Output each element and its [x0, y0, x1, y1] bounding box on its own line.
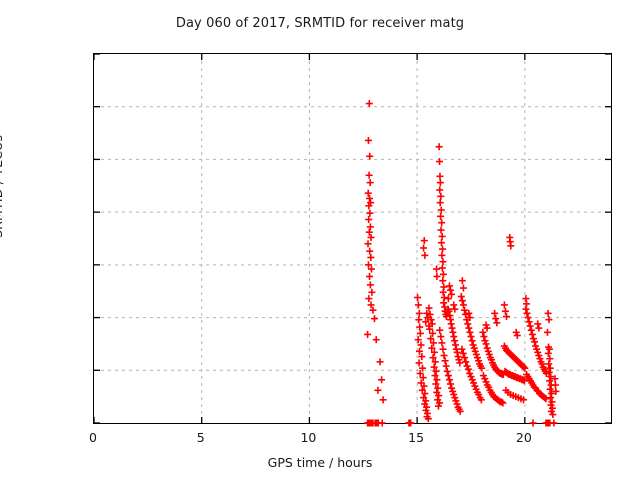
data-point-marker: [365, 240, 372, 247]
data-point-marker: [415, 301, 422, 308]
scatter-plot-figure: Day 060 of 2017, SRMTID for receiver mat…: [0, 0, 640, 480]
data-point-marker: [436, 173, 443, 180]
data-point-marker: [439, 258, 446, 265]
data-point-marker: [459, 297, 466, 304]
x-tick-label: 20: [516, 430, 532, 445]
data-point-marker: [529, 331, 536, 338]
data-point-marker: [377, 358, 384, 365]
data-point-marker: [552, 382, 559, 389]
data-point-marker: [503, 313, 510, 320]
data-point-marker: [367, 223, 374, 230]
data-point-marker: [493, 319, 500, 326]
data-point-marker: [448, 320, 455, 327]
data-point-marker: [442, 357, 449, 364]
data-point-marker: [459, 277, 466, 284]
x-axis-title: GPS time / hours: [0, 455, 640, 470]
data-point-marker: [365, 137, 372, 144]
data-point-marker: [438, 339, 445, 346]
data-point-marker: [366, 248, 373, 255]
data-point-marker: [450, 333, 457, 340]
data-point-marker: [450, 301, 457, 308]
data-point-marker: [368, 289, 375, 296]
data-point-marker: [444, 368, 451, 375]
data-point-marker: [535, 325, 542, 332]
data-point-marker: [523, 310, 530, 317]
data-point-marker: [366, 273, 373, 280]
data-point-marker: [367, 179, 374, 186]
data-point-marker: [437, 193, 444, 200]
data-point-marker: [378, 376, 385, 383]
data-point-marker: [545, 350, 552, 357]
data-point-marker: [366, 172, 373, 179]
data-point-marker: [447, 380, 454, 387]
data-point-marker: [460, 285, 467, 292]
data-point-marker: [433, 273, 440, 280]
data-point-marker: [365, 190, 372, 197]
data-point-marker: [467, 333, 474, 340]
data-point-marker: [438, 252, 445, 259]
data-point-marker: [367, 254, 374, 261]
data-point-marker: [464, 320, 471, 327]
data-point-marker: [544, 329, 551, 336]
data-point-marker: [373, 336, 380, 343]
data-point-marker: [443, 363, 450, 370]
data-point-marker: [451, 337, 458, 344]
data-point-markers: [94, 54, 611, 423]
data-point-marker: [366, 100, 373, 107]
data-point-marker: [547, 394, 554, 401]
plot-area: [93, 53, 612, 424]
data-point-marker: [440, 289, 447, 296]
data-point-marker: [465, 325, 472, 332]
x-tick-label: 15: [408, 430, 424, 445]
data-point-marker: [371, 315, 378, 322]
data-point-marker: [415, 316, 422, 323]
data-point-marker: [525, 314, 532, 321]
data-point-marker: [365, 295, 372, 302]
data-point-marker: [545, 316, 552, 323]
data-point-marker: [416, 310, 423, 317]
data-point-marker: [479, 329, 486, 336]
data-point-marker: [466, 329, 473, 336]
data-point-marker: [501, 301, 508, 308]
data-point-marker: [446, 282, 453, 289]
y-axis-title: SRMTID / TECUs: [0, 135, 5, 238]
data-point-marker: [439, 346, 446, 353]
data-point-marker: [438, 219, 445, 226]
data-point-marker: [492, 315, 499, 322]
data-point-marker: [437, 199, 444, 206]
data-point-marker: [366, 195, 373, 202]
data-point-marker: [440, 299, 447, 306]
data-point-marker: [534, 320, 541, 327]
data-point-marker: [366, 153, 373, 160]
data-point-marker: [438, 207, 445, 214]
data-point-marker: [458, 293, 465, 300]
data-point-marker: [527, 323, 534, 330]
data-point-marker: [439, 246, 446, 253]
data-point-marker: [469, 337, 476, 344]
x-tick-label: 0: [89, 430, 97, 445]
data-point-marker: [447, 287, 454, 294]
data-point-marker: [421, 237, 428, 244]
data-point-marker: [523, 300, 530, 307]
data-point-marker: [491, 310, 498, 317]
data-point-marker: [480, 333, 487, 340]
data-point-marker: [416, 359, 423, 366]
data-point-marker: [421, 252, 428, 259]
data-point-marker: [438, 227, 445, 234]
chart-title: Day 060 of 2017, SRMTID for receiver mat…: [0, 16, 640, 31]
data-point-marker: [367, 281, 374, 288]
data-point-marker: [433, 266, 440, 273]
data-point-marker: [530, 420, 537, 427]
data-point-marker: [436, 143, 443, 150]
data-point-marker: [446, 376, 453, 383]
data-point-marker: [439, 233, 446, 240]
data-point-marker: [416, 324, 423, 331]
data-point-marker: [365, 216, 372, 223]
data-point-marker: [460, 301, 467, 308]
data-point-marker: [379, 420, 386, 427]
data-point-marker: [546, 355, 553, 362]
data-point-marker: [438, 239, 445, 246]
x-tick-label: 5: [197, 430, 205, 445]
data-point-marker: [545, 310, 552, 317]
data-point-marker: [441, 352, 448, 359]
data-point-marker: [449, 325, 456, 332]
data-point-marker: [414, 294, 421, 301]
data-point-marker: [449, 329, 456, 336]
data-point-marker: [437, 213, 444, 220]
data-point-marker: [507, 242, 514, 249]
data-point-marker: [502, 308, 509, 315]
data-point-marker: [420, 244, 427, 251]
data-point-marker: [417, 330, 424, 337]
data-point-marker: [364, 331, 371, 338]
data-point-marker: [528, 327, 535, 334]
data-point-marker: [439, 277, 446, 284]
data-point-marker: [380, 396, 387, 403]
x-tick-label: 10: [300, 430, 316, 445]
data-point-marker: [436, 187, 443, 194]
data-point-marker: [445, 372, 452, 379]
data-point-marker: [452, 341, 459, 348]
data-point-marker: [374, 387, 381, 394]
data-point-marker: [436, 158, 443, 165]
data-point-marker: [440, 271, 447, 278]
data-point-marker: [550, 420, 557, 427]
data-point-marker: [462, 358, 469, 365]
data-point-marker: [437, 333, 444, 340]
data-point-marker: [437, 179, 444, 186]
data-point-marker: [526, 318, 533, 325]
data-point-marker: [436, 327, 443, 334]
data-point-marker: [439, 265, 446, 272]
data-point-marker: [366, 210, 373, 217]
